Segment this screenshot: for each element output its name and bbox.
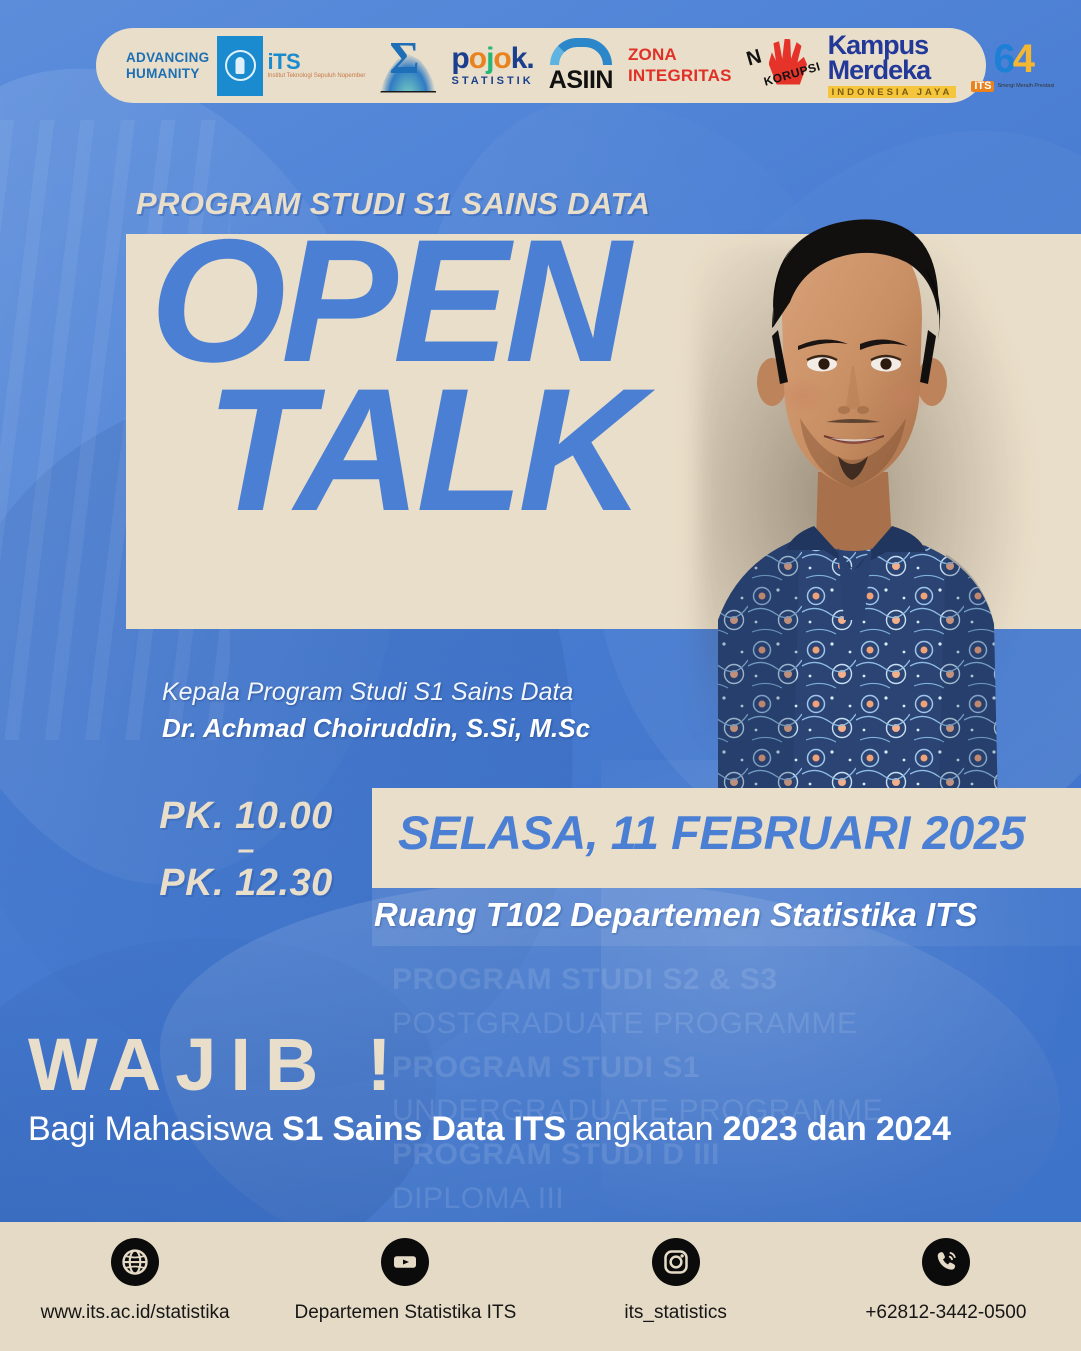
event-venue: Ruang T102 Departemen Statistika ITS bbox=[374, 896, 977, 934]
contact-instagram[interactable]: its_statistics bbox=[541, 1222, 811, 1351]
contact-website[interactable]: www.its.ac.id/statistika bbox=[0, 1222, 270, 1351]
mandatory-headline: WAJIB ! bbox=[28, 1030, 406, 1100]
mandatory-program: S1 Sains Data ITS bbox=[282, 1110, 566, 1148]
contact-website-label: www.its.ac.id/statistika bbox=[41, 1302, 230, 1324]
contact-phone-label: +62812-3442-0500 bbox=[865, 1302, 1026, 1324]
mandatory-cohorts: 2023 dan 2024 bbox=[723, 1110, 951, 1148]
mandatory-middle: angkatan bbox=[566, 1110, 723, 1148]
asiin-arc-icon bbox=[550, 38, 612, 65]
globe-icon bbox=[111, 1238, 159, 1286]
footer-contacts: www.its.ac.id/statistika Departemen Stat… bbox=[0, 1222, 1081, 1351]
speaker-role: Kepala Program Studi S1 Sains Data bbox=[162, 678, 590, 707]
time-end: PK. 12.30 bbox=[126, 862, 366, 905]
mandatory-prefix: Bagi Mahasiswa bbox=[28, 1110, 282, 1148]
pojok-statistik-logo: pojok. STATISTIK bbox=[451, 44, 533, 87]
speaker-name: Dr. Achmad Choiruddin, S.Si, M.Sc bbox=[162, 713, 590, 744]
event-time: PK. 10.00 – PK. 12.30 bbox=[126, 795, 366, 905]
its-64-anniversary-logo: 64 ITS Sinergi Meraih Prestasi bbox=[971, 39, 1054, 92]
whatsapp-icon bbox=[922, 1238, 970, 1286]
pojok-wordmark: pojok. bbox=[451, 44, 533, 74]
background-watermark-text: PROGRAM STUDI S2 & S3 POSTGRADUATE PROGR… bbox=[392, 958, 1052, 1221]
asiin-label: ASIIN bbox=[549, 68, 613, 93]
advancing-humanity-text: ADVANCING HUMANITY bbox=[126, 50, 209, 82]
partner-logo-bar: ADVANCING HUMANITY iTS Institut Teknolog… bbox=[96, 28, 986, 103]
speaker-info: Kepala Program Studi S1 Sains Data Dr. A… bbox=[162, 678, 590, 744]
no-korupsi-logo: N KORUPSI bbox=[747, 37, 813, 95]
speaker-photo bbox=[586, 150, 1056, 810]
kampus-merdeka-logo: Kampus Merdeka INDONESIA JAYA bbox=[828, 33, 957, 98]
contact-youtube-label: Departemen Statistika ITS bbox=[294, 1302, 516, 1324]
sigma-distribution-icon: Σ bbox=[380, 35, 436, 97]
its-emblem-icon bbox=[217, 36, 263, 96]
asiin-logo: ASIIN bbox=[549, 38, 613, 93]
contact-instagram-label: its_statistics bbox=[624, 1302, 726, 1324]
poster-root: PROGRAM STUDI S2 & S3 POSTGRADUATE PROGR… bbox=[0, 0, 1081, 1351]
youtube-icon bbox=[381, 1238, 429, 1286]
event-date: SELASA, 11 FEBRUARI 2025 bbox=[398, 805, 1025, 860]
contact-phone[interactable]: +62812-3442-0500 bbox=[811, 1222, 1081, 1351]
time-dash: – bbox=[126, 838, 366, 862]
its-acronym: iTS bbox=[267, 51, 365, 73]
instagram-icon bbox=[652, 1238, 700, 1286]
its-advancing-humanity-logo: ADVANCING HUMANITY iTS Institut Teknolog… bbox=[126, 36, 365, 96]
pojok-tagline: STATISTIK bbox=[451, 76, 533, 87]
mandatory-subtext: Bagi Mahasiswa S1 Sains Data ITS angkata… bbox=[28, 1110, 951, 1149]
contact-youtube[interactable]: Departemen Statistika ITS bbox=[270, 1222, 540, 1351]
speaker-portrait-illustration bbox=[586, 150, 1056, 810]
its-fullname: Institut Teknologi Sepuluh Nopember bbox=[267, 73, 365, 81]
zona-integritas-logo: ZONA INTEGRITAS bbox=[628, 45, 732, 86]
its-mark: iTS Institut Teknologi Sepuluh Nopember bbox=[217, 36, 365, 96]
time-start: PK. 10.00 bbox=[126, 795, 366, 838]
